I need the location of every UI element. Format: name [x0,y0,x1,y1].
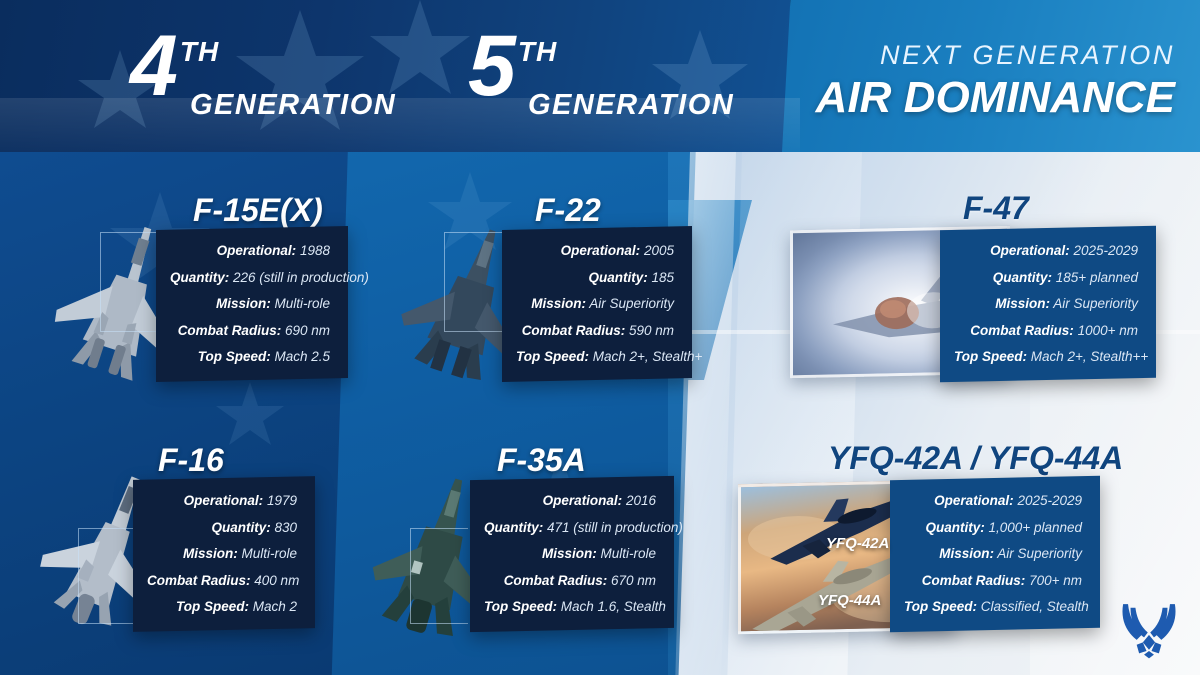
label-combat-radius: Combat Radius: [522,323,626,338]
f22-top-speed-value: Mach 2+, Stealth+ [593,349,703,364]
ngad-subtitle: NEXT GENERATION [795,40,1175,71]
yfq-44a-photo-label: YFQ-44A [818,592,881,609]
f22-mission-row: Mission: Air Superiority [516,297,674,311]
f35-operational-row: Operational: 2016 [484,494,656,508]
f15-mission-row: Mission: Multi-role [170,297,330,311]
label-top-speed: Top Speed: [954,349,1027,364]
f16-mission-value: Multi-role [241,546,297,561]
yfq-operational-row: Operational: 2025-2029 [904,494,1082,508]
f15-combat-radius-row: Combat Radius: 690 nm [170,324,330,338]
f22-operational-row: Operational: 2005 [516,244,674,258]
label-operational: Operational: [184,493,264,508]
f15-top-speed-row: Top Speed: Mach 2.5 [170,350,330,364]
f15-quantity-value: 226 (still in production) [233,270,369,285]
f35-combat-radius-row: Combat Radius: 670 nm [484,574,656,588]
label-top-speed: Top Speed: [484,599,557,614]
f16-top-speed-value: Mach 2 [253,599,297,614]
label-operational: Operational: [543,493,623,508]
f22-bracket-line [444,232,502,332]
label-quantity: Quantity: [484,520,543,535]
f16-combat-radius-row: Combat Radius: 400 nm [147,574,297,588]
f35-operational-value: 2016 [626,493,656,508]
f22-combat-radius-value: 590 nm [629,323,674,338]
label-top-speed: Top Speed: [176,599,249,614]
yfq-combat-radius-value: 700+ nm [1029,573,1082,588]
f16-operational-value: 1979 [267,493,297,508]
yfq-mission-row: Mission: Air Superiority [904,547,1082,561]
f16-title: F-16 [158,442,224,479]
yfq-top-speed-row: Top Speed: Classified, Stealth [904,600,1082,614]
generation-5-ordinal: TH [518,36,557,68]
yfq-42a-photo-label: YFQ-42A [826,535,889,552]
f15-title: F-15E(X) [193,192,323,229]
label-operational: Operational: [934,493,1014,508]
f15-mission-value: Multi-role [274,296,330,311]
f47-operational-value: 2025-2029 [1073,243,1138,258]
label-operational: Operational: [990,243,1070,258]
f35-mission-value: Multi-role [600,546,656,561]
f47-combat-radius-value: 1000+ nm [1078,323,1138,338]
f15-combat-radius-value: 690 nm [285,323,330,338]
f22-quantity-value: 185 [651,270,674,285]
f16-bracket-line [78,528,136,624]
label-quantity: Quantity: [993,270,1052,285]
f16-quantity-row: Quantity: 830 [147,521,297,535]
f15-top-speed-value: Mach 2.5 [274,349,330,364]
header-bar: 4TH GENERATION 5TH GENERATION NEXT GENER… [0,0,1200,152]
f15-quantity-row: Quantity: 226 (still in production) [170,271,330,285]
f22-top-speed-row: Top Speed: Mach 2+, Stealth+ [516,350,674,364]
label-quantity: Quantity: [926,520,985,535]
label-combat-radius: Combat Radius: [504,573,608,588]
f35-spec-card: Operational: 2016 Quantity: 471 (still i… [470,476,674,632]
f47-top-speed-row: Top Speed: Mach 2+, Stealth++ [954,350,1138,364]
generation-4-number: 4 [130,28,176,105]
f35-mission-row: Mission: Multi-role [484,547,656,561]
label-quantity: Quantity: [588,270,647,285]
f16-spec-card: Operational: 1979 Quantity: 830 Mission:… [133,476,315,631]
f47-spec-card: Operational: 2025-2029 Quantity: 185+ pl… [940,226,1156,382]
label-quantity: Quantity: [170,270,229,285]
yfq-quantity-row: Quantity: 1,000+ planned [904,521,1082,535]
generation-5-word: GENERATION [528,89,734,122]
label-quantity: Quantity: [211,520,270,535]
f47-quantity-row: Quantity: 185+ planned [954,271,1138,285]
yfq-quantity-value: 1,000+ planned [989,520,1082,535]
f47-mission-row: Mission: Air Superiority [954,297,1138,311]
f16-combat-radius-value: 400 nm [254,573,299,588]
label-mission: Mission: [531,296,586,311]
label-combat-radius: Combat Radius: [922,573,1026,588]
yfq-top-speed-value: Classified, Stealth [981,599,1089,614]
yfq-spec-card: Operational: 2025-2029 Quantity: 1,000+ … [890,476,1100,632]
f16-operational-row: Operational: 1979 [147,494,297,508]
f47-top-speed-value: Mach 2+, Stealth++ [1031,349,1148,364]
f35-combat-radius-value: 670 nm [611,573,656,588]
f35-bracket-line [410,528,468,624]
ngad-heading: NEXT GENERATION AIR DOMINANCE [795,40,1175,123]
f16-quantity-value: 830 [274,520,297,535]
f22-mission-value: Air Superiority [589,296,674,311]
yfq-title: YFQ-42A / YFQ-44A [828,440,1123,477]
generation-4-word: GENERATION [190,89,396,122]
label-mission: Mission: [995,296,1050,311]
generation-5-heading: 5TH GENERATION [468,28,734,122]
f35-top-speed-row: Top Speed: Mach 1.6, Stealth [484,600,656,614]
label-mission: Mission: [939,546,994,561]
f35-quantity-row: Quantity: 471 (still in production) [484,521,656,535]
label-combat-radius: Combat Radius: [147,573,251,588]
infographic-root: 4TH GENERATION 5TH GENERATION NEXT GENER… [0,0,1200,675]
label-mission: Mission: [216,296,271,311]
f15-spec-card: Operational: 1988 Quantity: 226 (still i… [156,226,348,382]
generation-4-heading: 4TH GENERATION [130,28,396,122]
generation-4-ordinal: TH [180,36,219,68]
label-top-speed: Top Speed: [516,349,589,364]
yfq-operational-value: 2025-2029 [1017,493,1082,508]
f22-combat-radius-row: Combat Radius: 590 nm [516,324,674,338]
f15-bracket-line [100,232,158,332]
f15-operational-value: 1988 [300,243,330,258]
f15-operational-row: Operational: 1988 [170,244,330,258]
label-operational: Operational: [561,243,641,258]
label-mission: Mission: [183,546,238,561]
f35-title: F-35A [497,442,586,479]
label-top-speed: Top Speed: [198,349,271,364]
f47-mission-value: Air Superiority [1053,296,1138,311]
label-top-speed: Top Speed: [904,599,977,614]
label-operational: Operational: [217,243,297,258]
ngad-title: AIR DOMINANCE [795,73,1175,123]
f22-title: F-22 [535,192,601,229]
f47-operational-row: Operational: 2025-2029 [954,244,1138,258]
label-combat-radius: Combat Radius: [970,323,1074,338]
label-combat-radius: Combat Radius: [178,323,282,338]
f47-quantity-value: 185+ planned [1056,270,1138,285]
f22-spec-card: Operational: 2005 Quantity: 185 Mission:… [502,226,692,381]
f22-operational-value: 2005 [644,243,674,258]
usaf-wings-logo-icon [1112,599,1186,661]
label-mission: Mission: [542,546,597,561]
yfq-mission-value: Air Superiority [997,546,1082,561]
f35-quantity-value: 471 (still in production) [547,520,683,535]
yfq-combat-radius-row: Combat Radius: 700+ nm [904,574,1082,588]
f47-combat-radius-row: Combat Radius: 1000+ nm [954,324,1138,338]
f16-mission-row: Mission: Multi-role [147,547,297,561]
f22-quantity-row: Quantity: 185 [516,271,674,285]
f47-title: F-47 [963,190,1029,227]
f35-top-speed-value: Mach 1.6, Stealth [561,599,666,614]
f16-top-speed-row: Top Speed: Mach 2 [147,600,297,614]
generation-5-number: 5 [468,28,514,105]
